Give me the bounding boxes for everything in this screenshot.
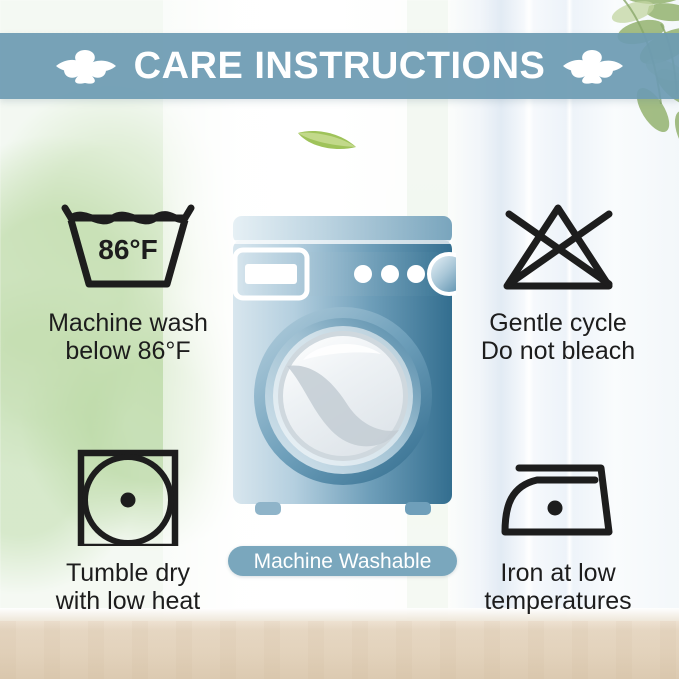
instruction-machine-wash: 86°F Machine wash below 86°F xyxy=(18,196,238,365)
page-title: CARE INSTRUCTIONS xyxy=(134,47,546,85)
instruction-caption: Iron at low temperatures xyxy=(484,559,631,615)
fleur-de-lis-icon xyxy=(561,46,625,86)
wood-table-surface xyxy=(0,621,679,679)
instruction-tumble-dry: Tumble dry with low heat xyxy=(18,446,238,615)
fleur-de-lis-icon xyxy=(54,46,118,86)
wash-tub-icon: 86°F xyxy=(53,196,203,301)
iron-low-heat-icon xyxy=(483,446,633,551)
header-banner: CARE INSTRUCTIONS xyxy=(0,33,679,99)
machine-washable-badge: Machine Washable xyxy=(228,546,457,576)
instruction-iron-low: Iron at low temperatures xyxy=(448,446,668,615)
instruction-gentle-cycle-no-bleach: Gentle cycle Do not bleach xyxy=(448,196,668,365)
care-instructions-graphic: CARE INSTRUCTIONS 86°F Machine wash belo… xyxy=(0,0,679,679)
instruction-caption: Gentle cycle Do not bleach xyxy=(481,309,635,365)
washing-machine-illustration xyxy=(229,214,456,534)
instruction-caption: Tumble dry with low heat xyxy=(56,559,201,615)
badge-label: Machine Washable xyxy=(254,551,432,572)
instruction-caption: Machine wash below 86°F xyxy=(48,309,208,365)
floating-leaf-icon xyxy=(296,126,358,152)
do-not-bleach-triangle-icon xyxy=(483,196,633,301)
tumble-dry-low-icon xyxy=(53,446,203,551)
wash-temperature-label: 86°F xyxy=(98,234,157,265)
